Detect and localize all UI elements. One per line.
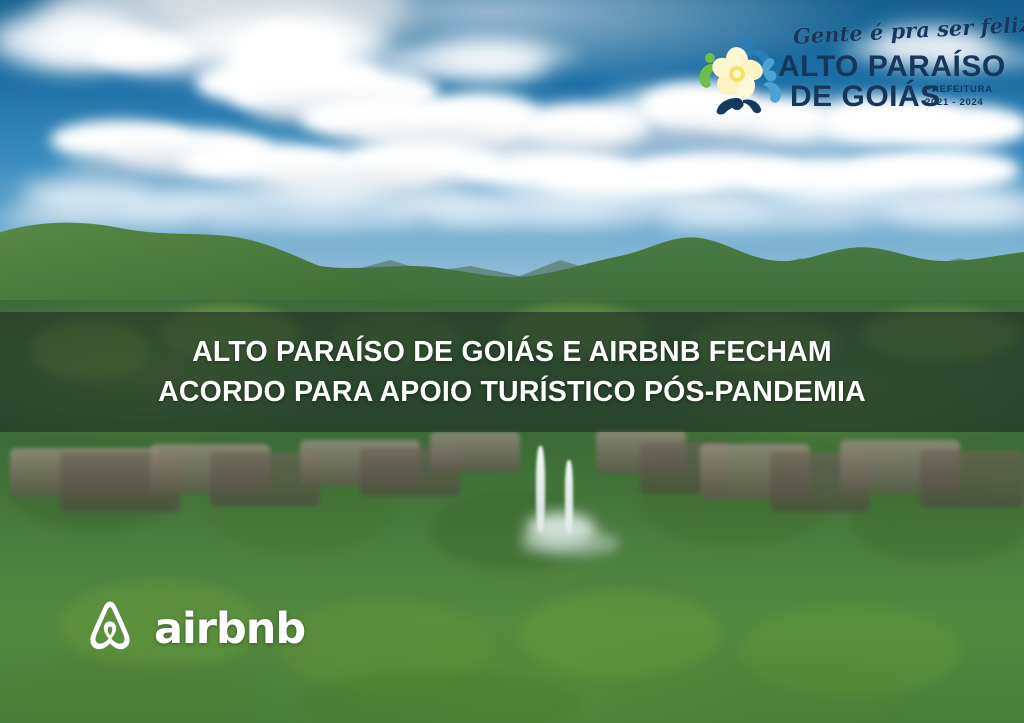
headline-overlay-band: ALTO PARAÍSO DE GOIÁS E AIRBNB FECHAM AC… xyxy=(0,312,1024,432)
airbnb-logo: airbnb xyxy=(80,596,305,661)
municipal-name-line-2: DE GOIÁS xyxy=(790,80,941,114)
municipal-name-line-1: ALTO PARAÍSO xyxy=(778,50,1006,84)
flower-and-people-emblem-icon xyxy=(697,32,785,116)
airbnb-belo-icon xyxy=(80,596,140,661)
municipal-sub-label: PREFEITURA xyxy=(925,84,993,95)
headline-line-1: ALTO PARAÍSO DE GOIÁS E AIRBNB FECHAM xyxy=(192,332,832,372)
promotional-banner: ALTO PARAÍSO DE GOIÁS E AIRBNB FECHAM AC… xyxy=(0,0,1024,723)
airbnb-wordmark: airbnb xyxy=(154,604,305,654)
municipal-logo-text: Gente é pra ser feliz! ALTO PARAÍSO DE G… xyxy=(777,24,959,124)
twin-waterfalls xyxy=(520,446,630,566)
headline-line-2: ACORDO PARA APOIO TURÍSTICO PÓS-PANDEMIA xyxy=(158,372,866,412)
municipal-logo: Gente é pra ser feliz! ALTO PARAÍSO DE G… xyxy=(697,24,959,124)
municipal-term-years: 2021 - 2024 xyxy=(925,97,983,108)
